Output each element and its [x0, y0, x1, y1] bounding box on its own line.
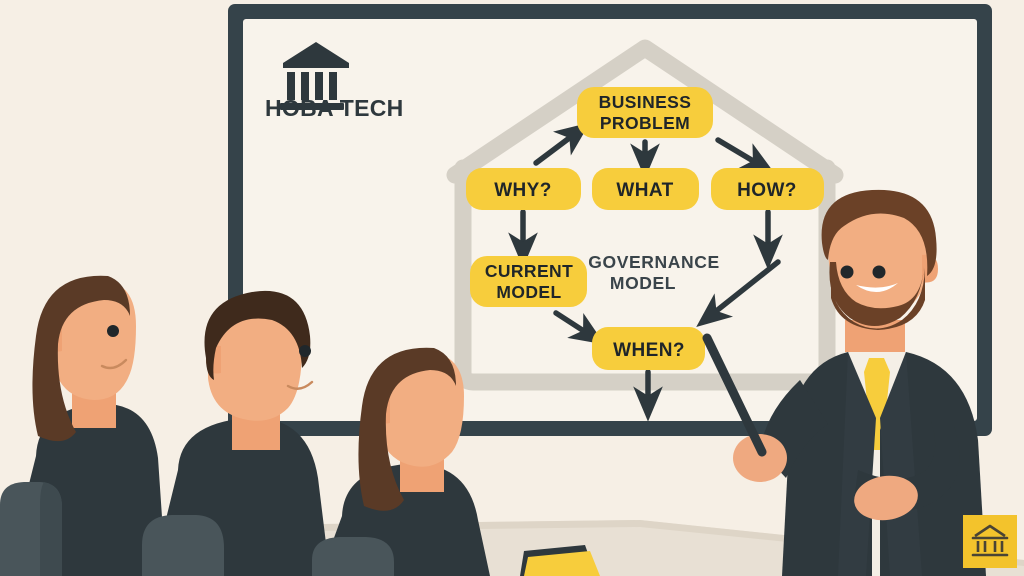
- node-what-label: WHAT: [616, 180, 673, 201]
- governance-model-label-line1: GOVERNANCE: [588, 252, 719, 272]
- node-business-problem-label-line2: PROBLEM: [600, 113, 690, 133]
- node-why-label: WHY?: [494, 180, 552, 201]
- presenter-eye-right: [873, 266, 886, 279]
- chair-right: [312, 537, 394, 576]
- illustration-scene: HOBA TECH GOVERNANCE MODEL BUSINESS PROB…: [0, 0, 1024, 576]
- node-current-model-label-line2: MODEL: [496, 282, 561, 302]
- node-what[interactable]: WHAT: [592, 168, 699, 210]
- governance-model-label-line2: MODEL: [610, 273, 676, 293]
- corner-badge[interactable]: [963, 515, 1017, 568]
- node-when[interactable]: WHEN?: [592, 327, 705, 370]
- chair-middle: [142, 515, 224, 576]
- audience-woman-left-eye: [107, 325, 119, 337]
- node-why[interactable]: WHY?: [466, 168, 581, 210]
- node-current-model[interactable]: CURRENT MODEL: [470, 256, 587, 307]
- logo-text: HOBA TECH: [265, 95, 404, 121]
- node-business-problem[interactable]: BUSINESS PROBLEM: [577, 87, 713, 138]
- node-how-label: HOW?: [737, 180, 797, 201]
- audience-man-middle-eye: [299, 345, 311, 357]
- node-how[interactable]: HOW?: [711, 168, 824, 210]
- node-when-label: WHEN?: [613, 340, 685, 361]
- presenter-eye-left: [841, 266, 854, 279]
- node-business-problem-label-line1: BUSINESS: [599, 92, 692, 112]
- chair-left-shadow: [40, 482, 62, 576]
- node-current-model-label-line1: CURRENT: [485, 261, 573, 281]
